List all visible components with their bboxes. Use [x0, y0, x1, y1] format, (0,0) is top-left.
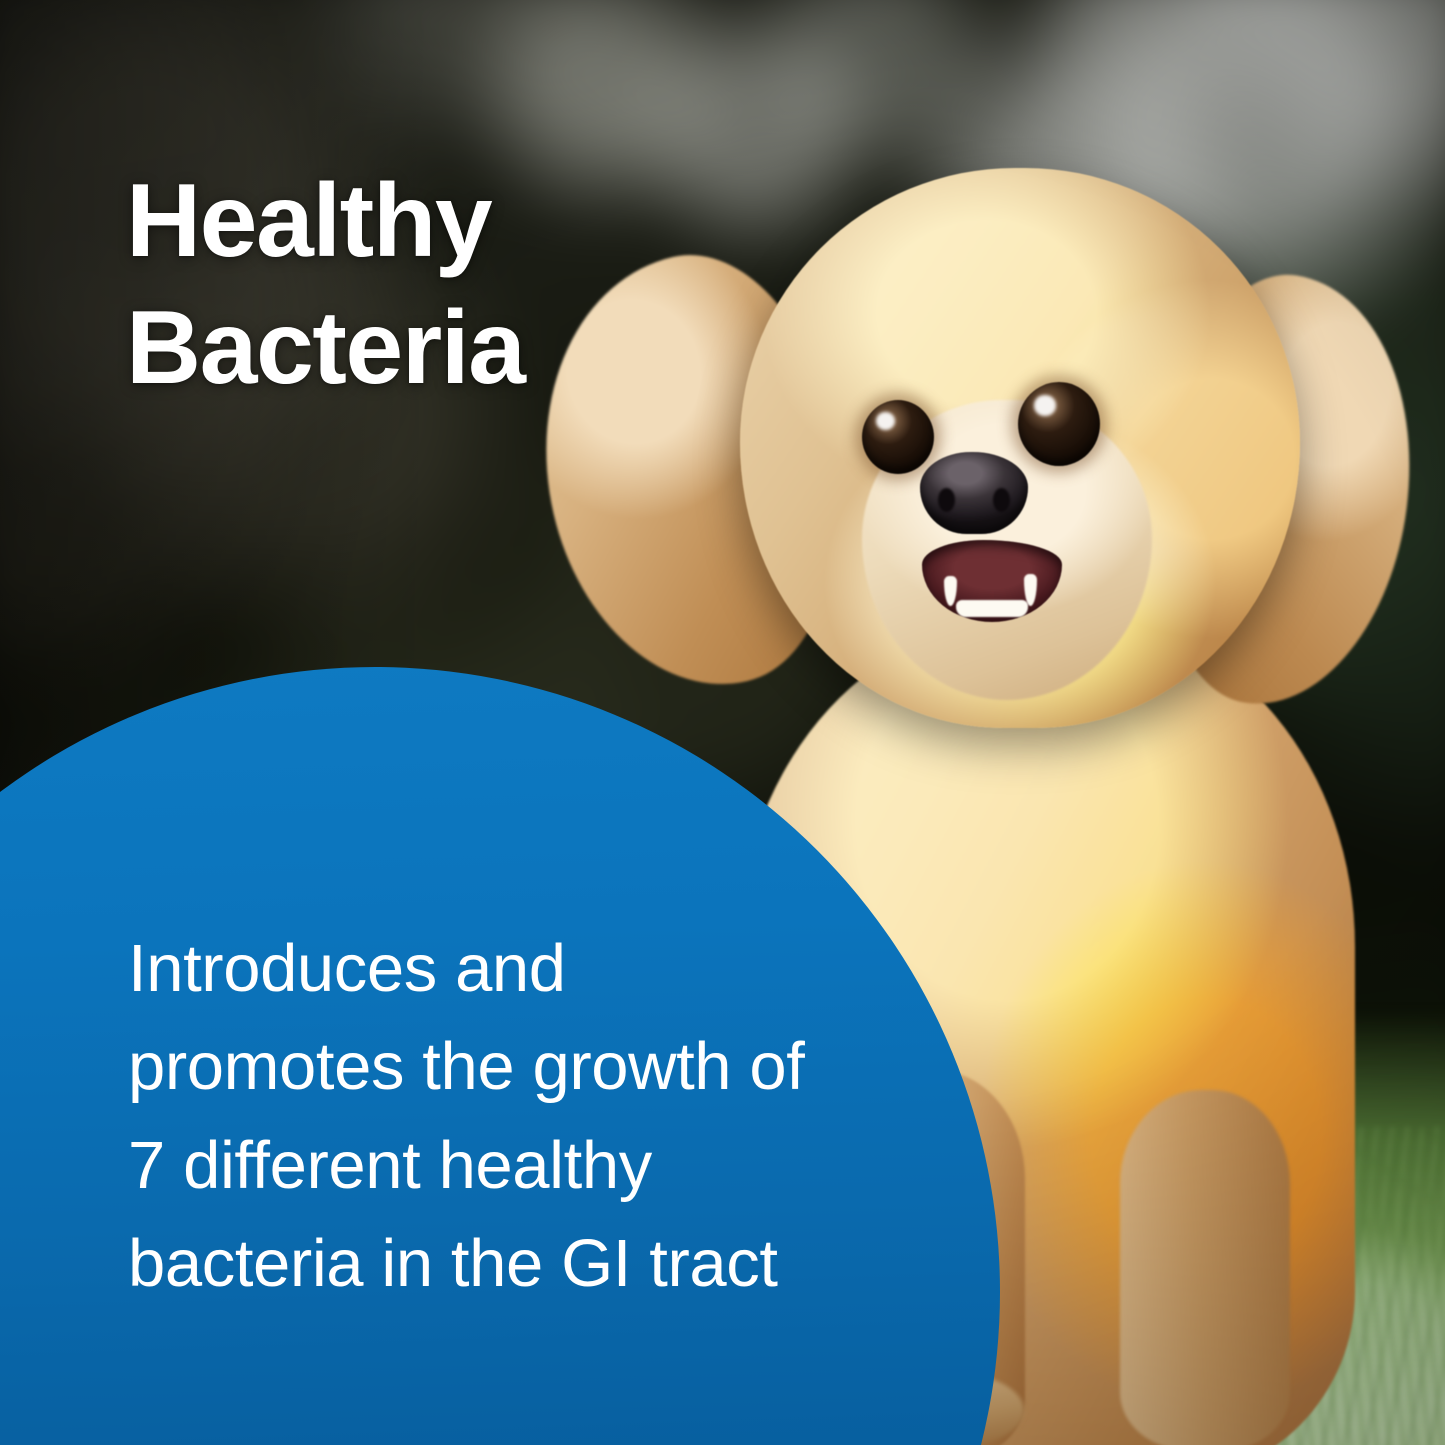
- dog-tooth-left: [944, 576, 957, 606]
- dog-lower-teeth: [956, 600, 1029, 617]
- feature-card: Healthy Bacteria Introduces and promotes…: [0, 0, 1445, 1445]
- dog-nose: [920, 452, 1028, 534]
- benefit-description: Introduces and promotes the growth of 7 …: [128, 920, 828, 1314]
- page-title: Healthy Bacteria: [126, 158, 524, 412]
- dog-front-right-leg: [1120, 1090, 1290, 1445]
- dog-left-eye: [862, 400, 934, 474]
- dog-right-eye: [1018, 382, 1100, 466]
